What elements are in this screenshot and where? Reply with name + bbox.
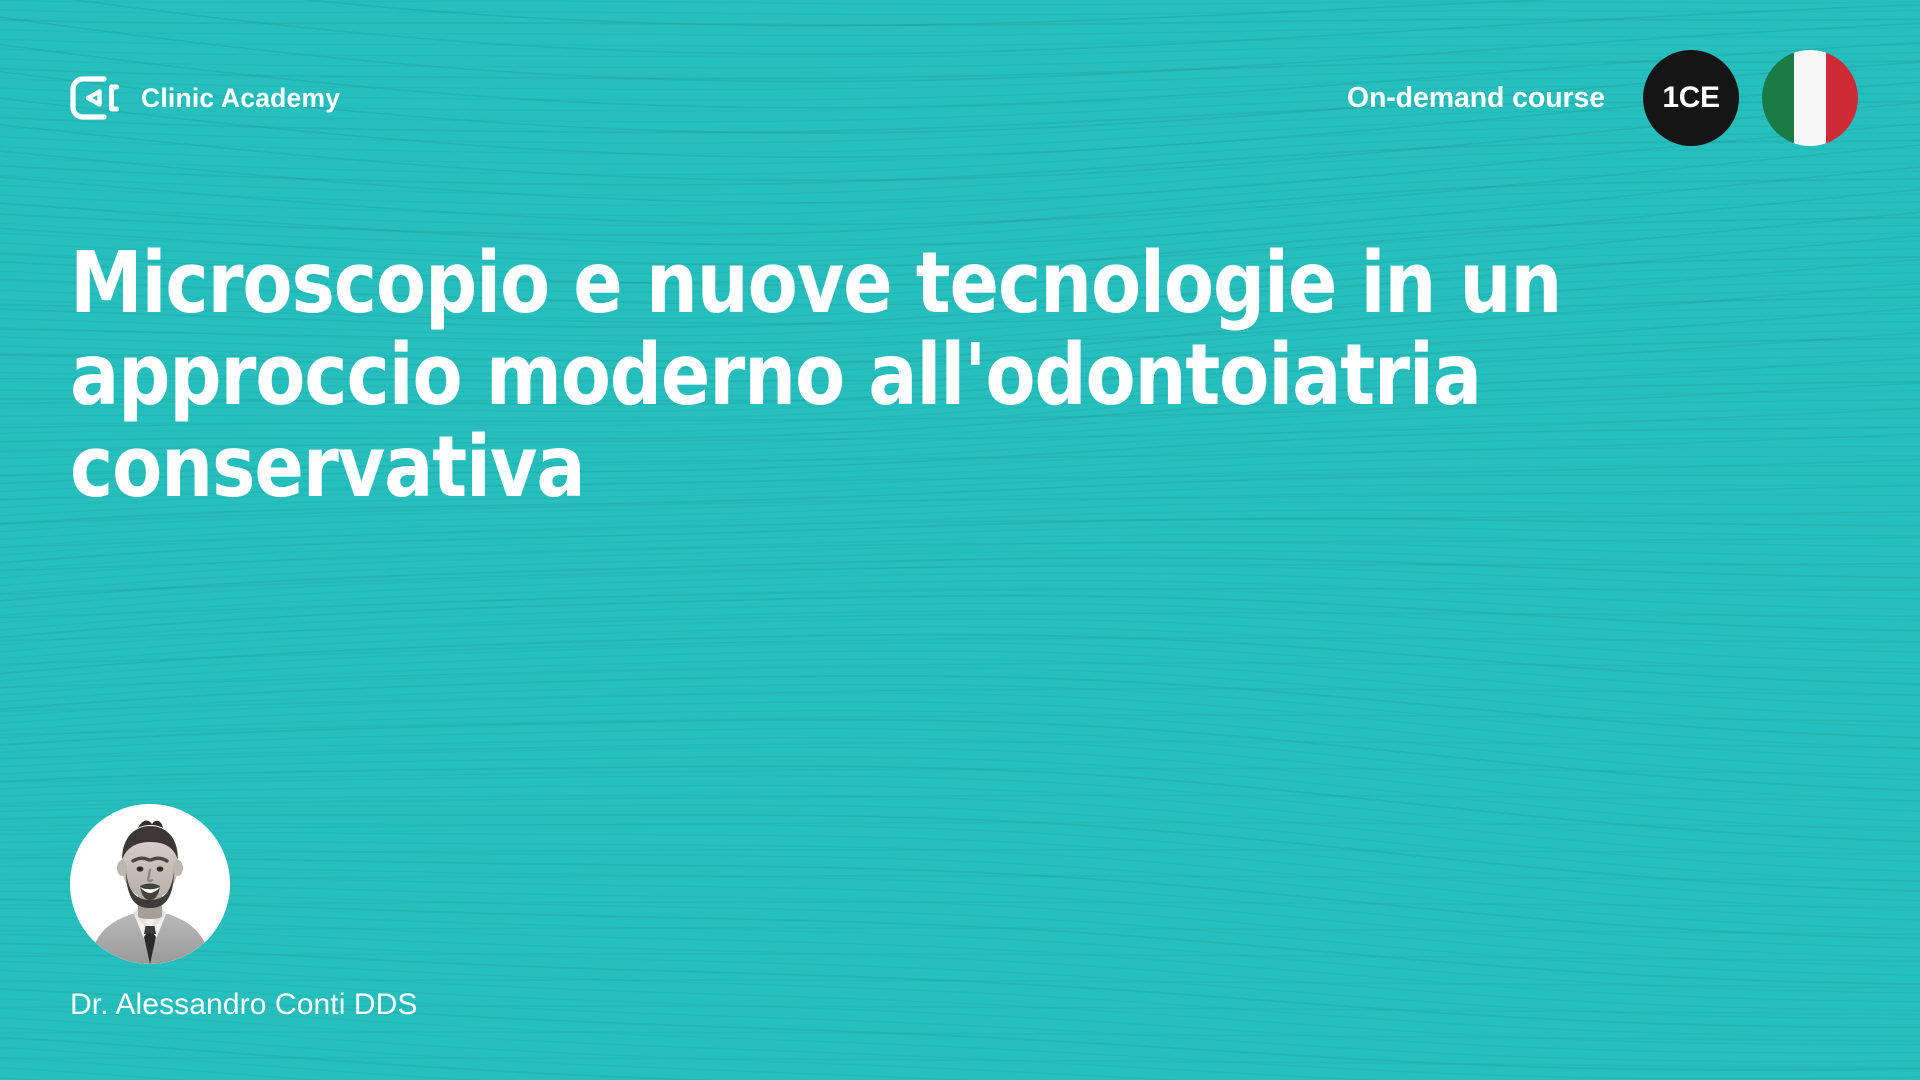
presenter-block: Dr. Alessandro Conti DDS <box>70 804 418 1022</box>
ce-credit-label: 1CE <box>1662 83 1719 113</box>
header-right-group: On-demand course 1CE <box>1347 50 1858 146</box>
card-header: Clinic Academy On-demand course 1CE <box>0 0 1920 196</box>
course-kind-label: On-demand course <box>1347 82 1605 115</box>
course-card: Clinic Academy On-demand course 1CE Micr… <box>0 0 1920 1080</box>
video-camera-icon <box>70 76 122 120</box>
presenter-avatar <box>70 804 230 964</box>
presenter-name: Dr. Alessandro Conti DDS <box>70 988 418 1022</box>
brand-name: Clinic Academy <box>141 83 340 114</box>
flag-stripe-green <box>1762 50 1794 146</box>
course-title: Microscopio e nuove tecnologie in un app… <box>70 238 1779 513</box>
title-block: Microscopio e nuove tecnologie in un app… <box>70 238 1860 513</box>
flag-stripe-red <box>1826 50 1858 146</box>
ce-credit-badge: 1CE <box>1643 50 1739 146</box>
flag-stripe-white <box>1794 50 1826 146</box>
flag-italy-icon <box>1762 50 1858 146</box>
brand[interactable]: Clinic Academy <box>70 76 340 120</box>
